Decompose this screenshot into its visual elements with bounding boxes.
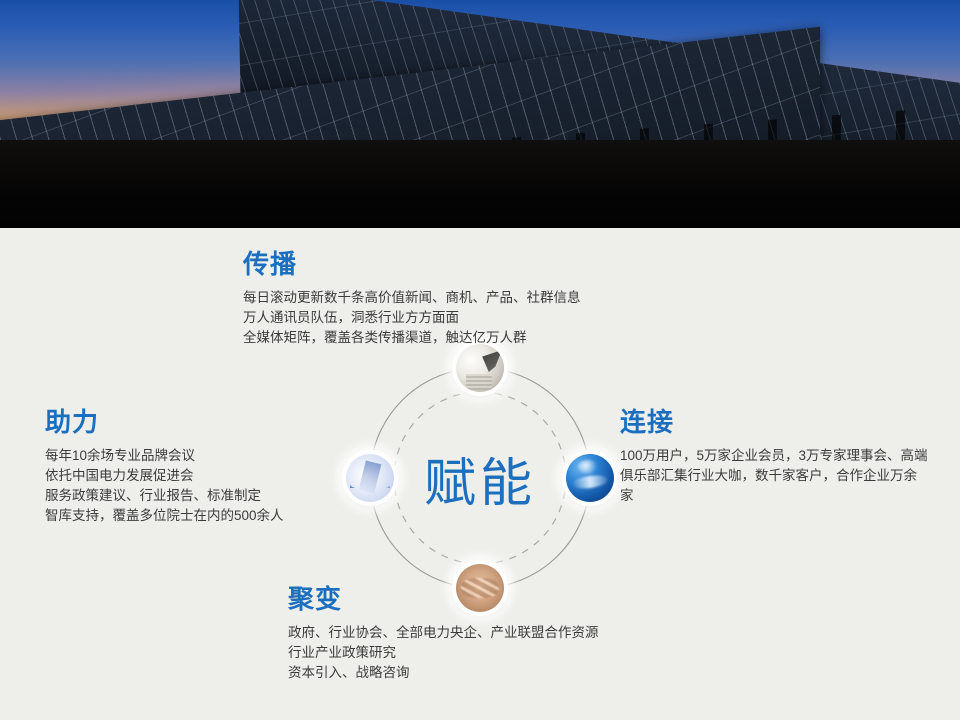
body-chuanbo: 每日滚动更新数千条高价值新闻、商机、产品、社群信息 万人通讯员队伍，洞悉行业方方… xyxy=(243,288,581,348)
blue-globe-icon xyxy=(566,454,614,502)
body-line: 万人通讯员队伍，洞悉行业方方面面 xyxy=(243,308,581,328)
text-block-jubian: 聚变 政府、行业协会、全部电力央企、产业联盟合作资源 行业产业政策研究 资本引入… xyxy=(288,585,599,683)
body-line: 依托中国电力发展促进会 xyxy=(45,466,284,486)
heading-chuanbo: 传播 xyxy=(243,250,581,279)
diagram-node-right[interactable] xyxy=(562,450,618,506)
body-zhuli: 每年10余场专业品牌会议 依托中国电力发展促进会 服务政策建议、行业报告、标准制… xyxy=(45,446,284,526)
banner-bottom-fade xyxy=(0,182,960,228)
body-lianjie: 100万用户，5万家企业会员，3万专家理事会、高端俱乐部汇集行业大咖，数千家客户… xyxy=(620,446,930,506)
text-block-zhuli: 助力 每年10余场专业品牌会议 依托中国电力发展促进会 服务政策建议、行业报告、… xyxy=(45,408,284,526)
conference-abstract-icon xyxy=(346,454,394,502)
body-line: 全媒体矩阵，覆盖各类传播渠道，触达亿万人群 xyxy=(243,328,581,348)
heading-jubian: 聚变 xyxy=(288,585,599,614)
capability-circle-diagram: 赋能 xyxy=(340,338,620,618)
satellite-dish-icon xyxy=(456,344,504,392)
diagram-node-top[interactable] xyxy=(452,340,508,396)
text-block-chuanbo: 传播 每日滚动更新数千条高价值新闻、商机、产品、社群信息 万人通讯员队伍，洞悉行… xyxy=(243,250,581,348)
body-line: 每年10余场专业品牌会议 xyxy=(45,446,284,466)
body-line: 行业产业政策研究 xyxy=(288,643,599,663)
body-line: 资本引入、战略咨询 xyxy=(288,663,599,683)
text-block-lianjie: 连接 100万用户，5万家企业会员，3万专家理事会、高端俱乐部汇集行业大咖，数千… xyxy=(620,408,930,506)
body-line: 服务政策建议、行业报告、标准制定 xyxy=(45,486,284,506)
body-line: 政府、行业协会、全部电力央企、产业联盟合作资源 xyxy=(288,623,599,643)
heading-zhuli: 助力 xyxy=(45,408,284,437)
slide-root: 赋能 传播 每日滚动更新数千条高价值新闻、商机、产品、社群信息 万人通讯员队伍，… xyxy=(0,0,960,720)
body-jubian: 政府、行业协会、全部电力央企、产业联盟合作资源 行业产业政策研究 资本引入、战略… xyxy=(288,623,599,683)
inner-dashed-ring xyxy=(394,392,566,564)
diagram-node-left[interactable] xyxy=(342,450,398,506)
outer-ring xyxy=(370,368,590,588)
body-line: 每日滚动更新数千条高价值新闻、商机、产品、社群信息 xyxy=(243,288,581,308)
body-line: 智库支持，覆盖多位院士在内的500余人 xyxy=(45,506,284,526)
heading-lianjie: 连接 xyxy=(620,408,930,437)
body-line: 100万用户，5万家企业会员，3万专家理事会、高端俱乐部汇集行业大咖，数千家客户… xyxy=(620,446,930,506)
header-banner-image xyxy=(0,0,960,228)
